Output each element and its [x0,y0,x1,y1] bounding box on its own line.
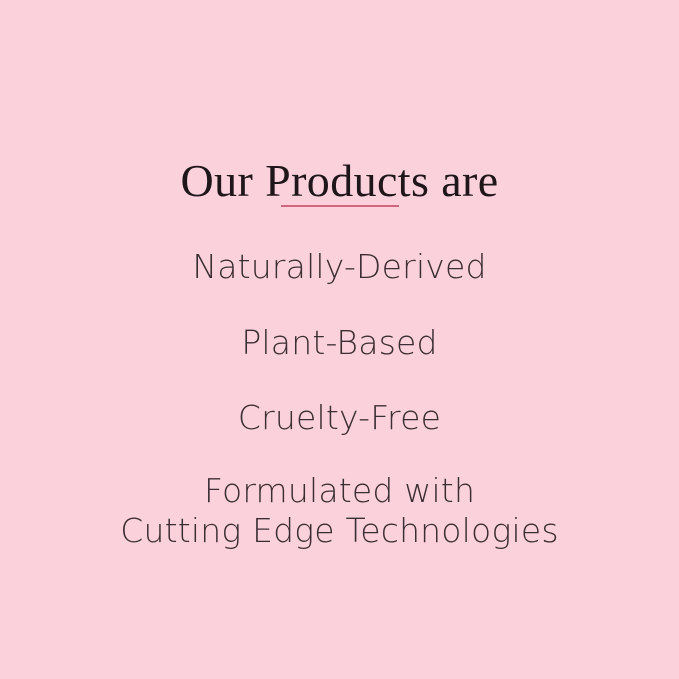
page-title: Our Products are [0,157,679,205]
claims-list: Naturally-Derived Plant-Based Cruelty-Fr… [0,248,679,551]
divider-container [0,205,679,207]
claim-line-cutting-edge-technologies: Cutting Edge Technologies [0,511,679,551]
list-item-plant-based: Plant-Based [0,324,679,363]
product-claims-poster: Our Products are Naturally-Derived Plant… [0,0,679,679]
claim-line-formulated-with: Formulated with [204,471,475,510]
list-item-naturally-derived: Naturally-Derived [0,248,679,287]
title-divider [281,205,399,207]
list-item-cutting-edge-technologies: Formulated with Cutting Edge Technologie… [0,471,679,552]
list-item-cruelty-free: Cruelty-Free [0,399,679,438]
